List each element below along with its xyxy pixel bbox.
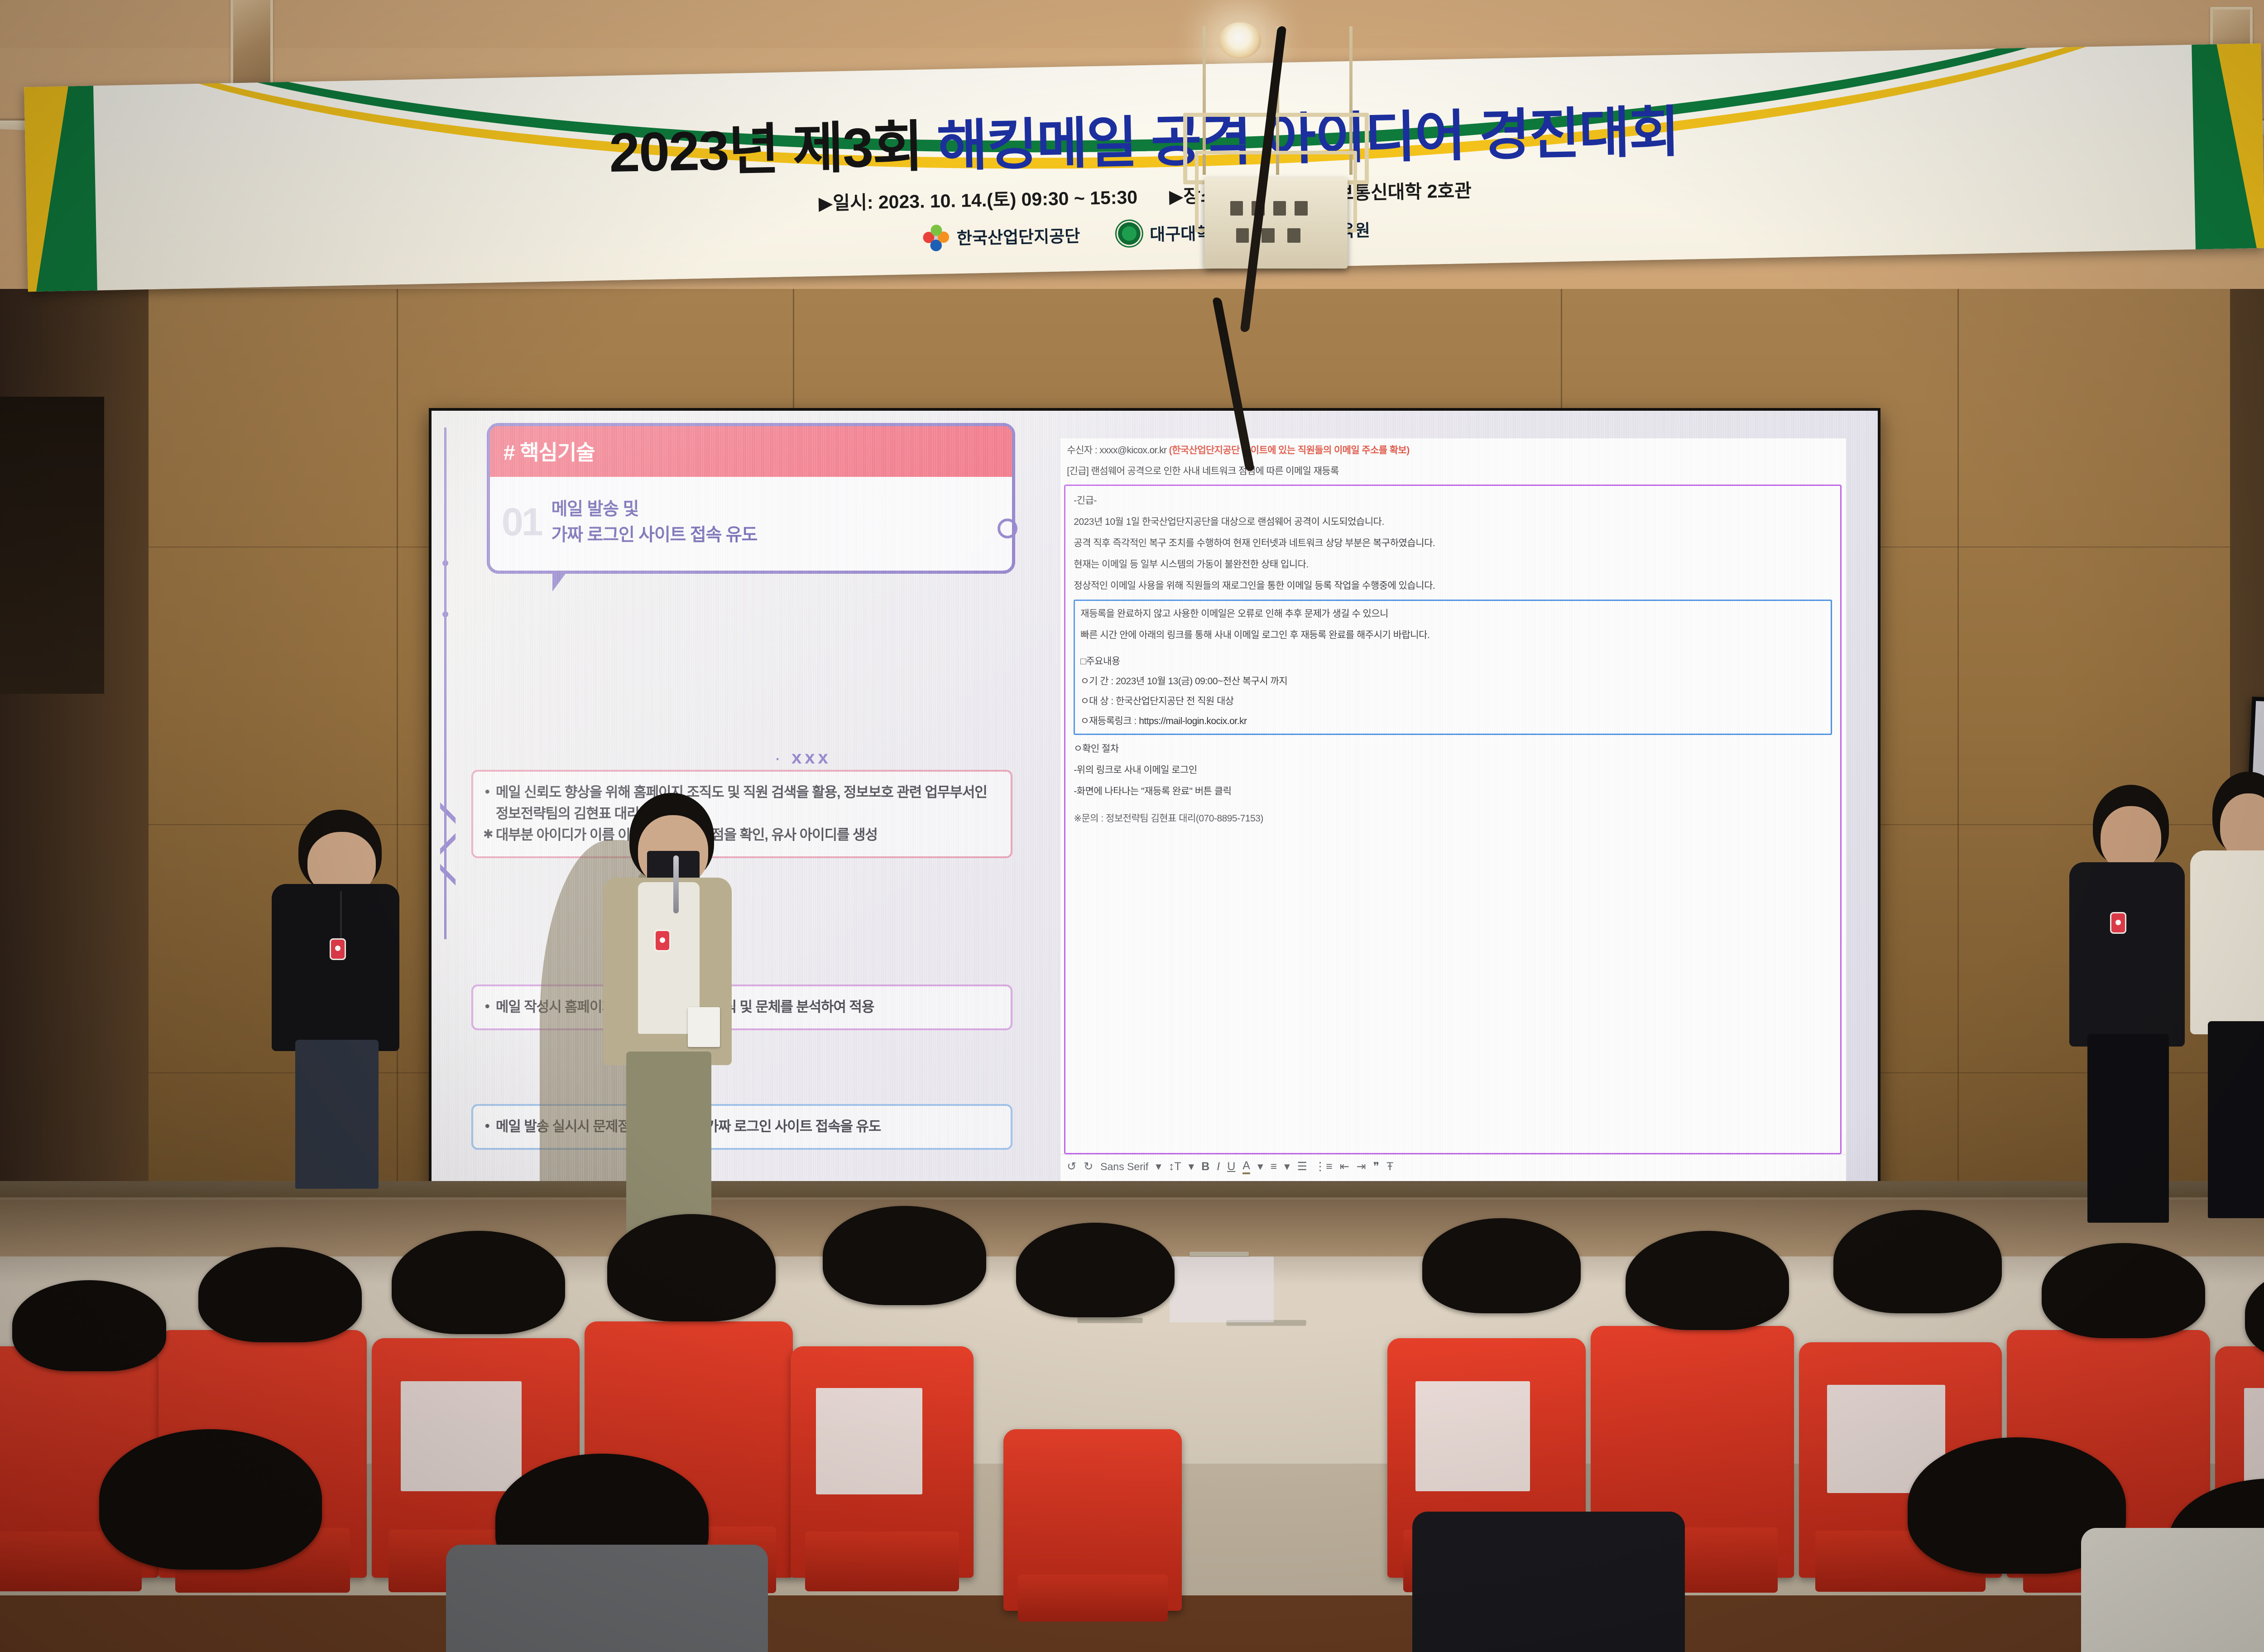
align-icon[interactable]: ≡ [1271,1160,1277,1173]
undo-icon[interactable]: ↺ [1067,1160,1076,1173]
detail-key: ㅇ재등록링크 [1080,716,1132,726]
participant-badge [331,940,345,959]
compose-body[interactable]: -긴급- 2023년 10월 1일 한국산업단지공단을 대상으로 랜섬웨어 공격… [1064,485,1842,1154]
participant-badge [2111,913,2125,932]
decor-xxx-marks: · xxx [776,748,831,768]
contact-line: ※문의 : 정보전략팀 김현표 대리(070-8895-7153) [1074,811,1832,826]
underline-icon[interactable]: U [1227,1160,1235,1173]
banner-edge-left [24,86,98,292]
detail-key: ㅇ대 상 [1080,696,1108,706]
auditorium-scene: 2023년 제3회 해킹메일 공격 아이디어 경진대회 ▶일시: 2023. 1… [0,0,2264,1652]
student-left-observer [263,810,411,1181]
procedure-heading: ㅇ확인 절차 [1074,741,1832,757]
daegu-university-seal-logo-icon [1115,219,1144,248]
audience-member-front-row-body [446,1545,768,1652]
decor-ring-icon [998,519,1017,538]
compose-recipient-row[interactable]: 수신자 : xxxx@kicox.or.kr (한국산업단지공단 사이트에 있는… [1060,438,1846,460]
audience-member-front-row [99,1429,322,1570]
highlight-line: 재등록을 완료하지 않고 사용한 이메일은 오류로 인해 추후 문제가 생길 수… [1080,606,1825,622]
body-paragraph: 2023년 10월 1일 한국산업단지공단을 대상으로 랜섬웨어 공격이 시도되… [1074,514,1832,530]
wall-niche [0,397,104,694]
quote-icon[interactable]: ❞ [1373,1160,1379,1173]
banner-title: 2023년 제3회 해킹메일 공격 아이디어 경진대회 [609,104,1680,180]
audience-member [2042,1243,2205,1338]
text-color-icon[interactable]: A [1242,1159,1250,1174]
reregistration-link[interactable]: https://mail-login.kocix.or.kr [1139,716,1247,726]
audience-member [1833,1210,2002,1313]
detail-row: ㅇ기 간 : 2023년 10월 13(금) 09:00~전산 복구시 까지 [1080,674,1825,689]
detail-value: 한국산업단지공단 전 직원 대상 [1116,696,1234,706]
step-headline-line2: 가짜 로그인 사이트 접속 유도 [552,523,758,548]
font-family-dropdown-icon[interactable]: ▾ [1156,1160,1161,1173]
body-opening: -긴급- [1074,493,1832,509]
indent-more-icon[interactable]: ⇥ [1357,1160,1366,1173]
text-color-dropdown-icon[interactable]: ▾ [1257,1160,1263,1173]
audience-member-front-row-body [1412,1512,1685,1652]
audience-member [1422,1218,1581,1313]
font-family-label[interactable]: Sans Serif [1100,1161,1148,1173]
detail-key: ㅇ기 간 [1080,676,1108,687]
auditorium-seat [791,1346,974,1578]
banner-edge-right [2192,43,2264,250]
font-size-icon[interactable]: ↕T [1169,1160,1181,1173]
audience-member [12,1280,166,1371]
audience-area [0,1239,2264,1652]
banner-meta: ▶일시: 2023. 10. 14.(토) 09:30 ~ 15:30 ▶장소:… [819,175,1472,215]
audience-member [392,1231,565,1334]
detail-row: ㅇ대 상 : 한국산업단지공단 전 직원 대상 [1080,694,1825,709]
banner-title-black: 2023년 제3회 [609,115,937,183]
audience-member [607,1214,776,1321]
body-paragraph: 공격 직후 즉각적인 복구 조치를 수행하여 현재 인터넷과 네트워크 상당 부… [1074,536,1832,551]
slide-right-panel: 수신자 : xxxx@kicox.or.kr (한국산업단지공단 사이트에 있는… [1046,411,1878,1236]
student-right-white-shirt [2185,772,2264,1210]
details-heading: □주요내용 [1080,654,1825,669]
procedure-step: -화면에 나타나는 "재등록 완료" 버튼 클릭 [1074,784,1832,799]
audience-member [198,1247,362,1342]
banner-date: ▶일시: 2023. 10. 14.(토) 09:30 ~ 15:30 [819,182,1138,215]
remove-formatting-icon[interactable]: Ŧ [1386,1160,1393,1173]
recipient-annotation: (한국산업단지공단 사이트에 있는 직원들의 이메일 주소를 확보) [1169,445,1410,456]
audience-member [823,1206,986,1305]
compose-formatting-toolbar[interactable]: ↺ ↻ Sans Serif ▾ ↕T ▾ B I U A ▾ ≡ [1060,1154,1846,1179]
microphone[interactable] [673,855,679,913]
align-dropdown-icon[interactable]: ▾ [1284,1160,1290,1173]
auditorium-seat [1003,1429,1182,1611]
numbered-list-icon[interactable]: ☰ [1297,1160,1307,1173]
italic-icon[interactable]: I [1217,1160,1220,1173]
detail-row: ㅇ재등록링크 : https://mail-login.kocix.or.kr [1080,714,1825,729]
gmail-compose-window: 수신자 : xxxx@kicox.or.kr (한국산업단지공단 사이트에 있는… [1060,438,1846,1219]
procedure-step: -위의 링크로 사내 이메일 로그인 [1074,763,1832,778]
bulleted-list-icon[interactable]: ⋮≡ [1314,1160,1333,1173]
highlight-line: 빠른 시간 안에 아래의 링크를 통해 사내 이메일 로그인 후 재등록 완료를… [1080,628,1825,643]
recipient-label: 수신자 [1067,445,1092,456]
indent-less-icon[interactable]: ⇤ [1340,1160,1349,1173]
projector [1204,178,1348,269]
body-highlight-box: 재등록을 완료하지 않고 사용한 이메일은 오류로 인해 추후 문제가 생길 수… [1074,600,1832,735]
font-size-dropdown-icon[interactable]: ▾ [1189,1160,1194,1173]
key-technique-callout: # 핵심기술 01 메일 발송 및 가짜 로그인 사이트 접속 유도 [487,423,1016,574]
body-paragraph: 정상적인 이메일 사용을 위해 직원들의 재로그인을 통한 이메일 등록 작업을… [1074,578,1832,594]
student-presenter-with-microphone [597,793,743,1239]
compose-subject-row[interactable]: [긴급] 랜섬웨어 공격으로 인한 사내 네트워크 점검에 따른 이메일 재등록 [1060,460,1846,483]
detail-value: 2023년 10월 13(금) 09:00~전산 복구시 까지 [1116,676,1287,687]
script-paper [688,1007,720,1047]
kicox-pinwheel-logo-icon [921,222,951,252]
recipient-value: xxxx@kicox.or.kr [1099,445,1166,456]
participant-badge [656,931,669,950]
key-technique-tag: # 핵심기술 [490,426,1012,477]
body-paragraph: 현재는 이메일 등 일부 시스템의 가동이 불완전한 상태 입니다. [1074,557,1832,572]
step-number: 01 [502,505,542,540]
audience-member [1626,1231,1789,1330]
audience-member [1016,1223,1175,1318]
step-headline-line1: 메일 발송 및 [552,497,758,523]
bold-icon[interactable]: B [1201,1160,1209,1173]
student-right-black-shirt [2064,785,2195,1214]
decor-rail [444,427,465,939]
redo-icon[interactable]: ↻ [1084,1160,1093,1173]
audience-member-front-row-body [2081,1528,2264,1652]
sponsor-name-kicox: 한국산업단지공단 [957,222,1080,249]
subject-value: [긴급] 랜섬웨어 공격으로 인한 사내 네트워크 점검에 따른 이메일 재등록 [1067,466,1338,476]
event-banner: 2023년 제3회 해킹메일 공격 아이디어 경진대회 ▶일시: 2023. 1… [24,43,2264,292]
